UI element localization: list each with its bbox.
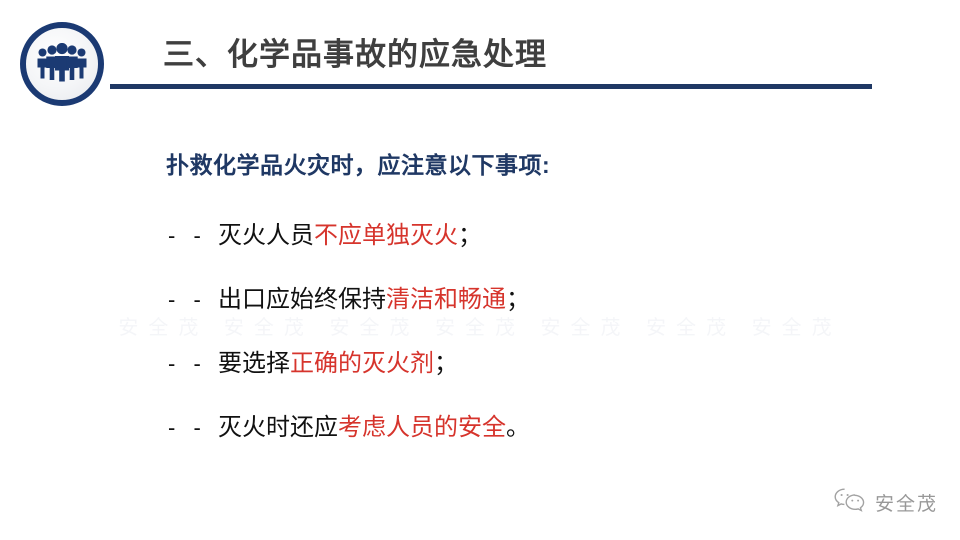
slide-canvas: 三、化学品事故的应急处理 扑救化学品火灾时，应注意以下事项: - - 灭火人员 … (0, 0, 960, 540)
bullet-text-highlight: 不应单独灭火 (314, 224, 458, 248)
bullet-list: - - 灭火人员 不应单独灭火 ； - - 出口应始终保持 清洁和畅通 ； - … (168, 204, 888, 460)
bullet-text-tail: 。 (506, 416, 530, 440)
bullet-dashes: - - (168, 289, 218, 311)
bullet-text-black: 出口应始终保持 (218, 288, 386, 312)
bullet-text-black: 灭火时还应 (218, 416, 338, 440)
bullet-text-tail: ； (434, 352, 458, 376)
bullet-dashes: - - (168, 417, 218, 439)
footer-watermark-label: 安全茂 (875, 489, 938, 516)
bullet-text-tail: ； (458, 224, 482, 248)
page-title: 三、化学品事故的应急处理 (163, 36, 547, 73)
bullet-text-highlight: 考虑人员的安全 (338, 416, 506, 440)
list-item: - - 要选择 正确的灭火剂 ； (168, 332, 888, 396)
lead-heading: 扑救化学品火灾时，应注意以下事项: (166, 146, 550, 180)
footer-watermark: 安全茂 (833, 487, 938, 518)
bullet-text-highlight: 正确的灭火剂 (290, 352, 434, 376)
bullet-dashes: - - (168, 225, 218, 247)
bullet-text-black: 灭火人员 (218, 224, 314, 248)
slide-header: 三、化学品事故的应急处理 (0, 0, 960, 120)
slide-body: 扑救化学品火灾时，应注意以下事项: - - 灭火人员 不应单独灭火 ； - - … (0, 120, 960, 540)
header-divider (110, 84, 872, 89)
list-item: - - 灭火时还应 考虑人员的安全 。 (168, 396, 888, 460)
wechat-icon (833, 487, 867, 518)
bullet-text-highlight: 清洁和畅通 (386, 288, 506, 312)
bullet-text-tail: ； (506, 288, 530, 312)
bullet-dashes: - - (168, 353, 218, 375)
bullet-text-black: 要选择 (218, 352, 290, 376)
list-item: - - 灭火人员 不应单独灭火 ； (168, 204, 888, 268)
group-of-people-icon (20, 22, 104, 106)
list-item: - - 出口应始终保持 清洁和畅通 ； (168, 268, 888, 332)
